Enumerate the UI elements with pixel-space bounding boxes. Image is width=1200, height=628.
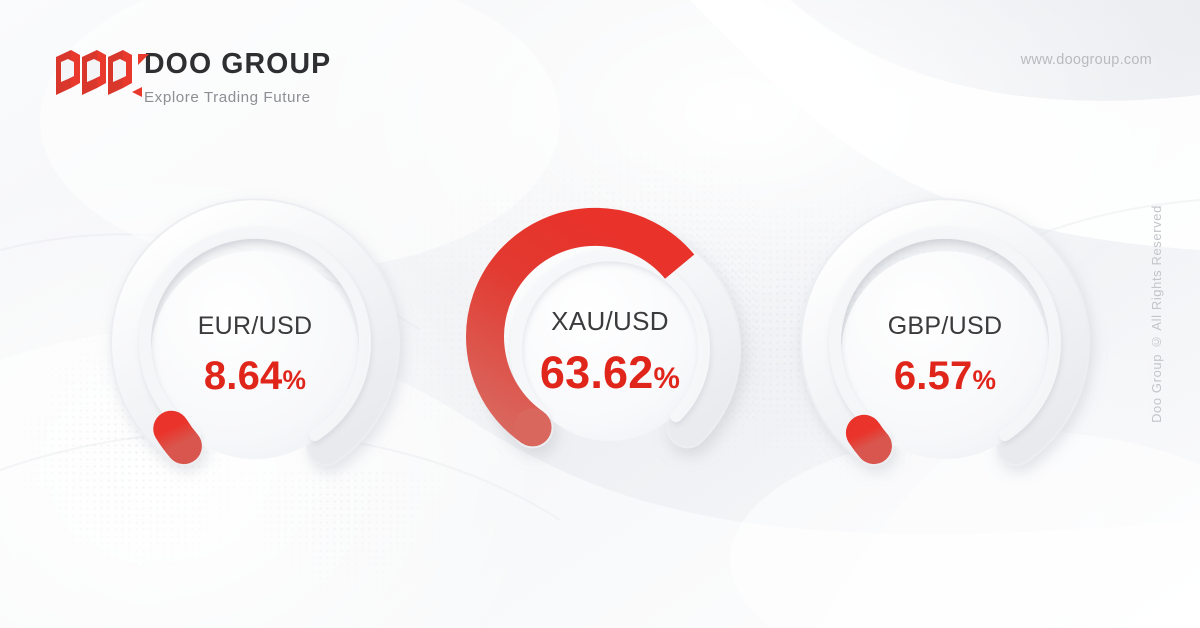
gauge-card-gbp-usd[interactable]: GBP/USD 6.57%: [800, 210, 1090, 500]
gauge-card-xau-usd[interactable]: XAU/USD 63.62%: [455, 195, 765, 505]
gauge-ring-xau-usd: [455, 195, 765, 505]
gauge-ring-gbp-usd: [800, 210, 1090, 500]
gauge-ring-eur-usd: [110, 210, 400, 500]
gauge-card-eur-usd[interactable]: EUR/USD 8.64%: [110, 210, 400, 500]
gauge-chart-group: EUR/USD 8.64%: [0, 0, 1200, 628]
